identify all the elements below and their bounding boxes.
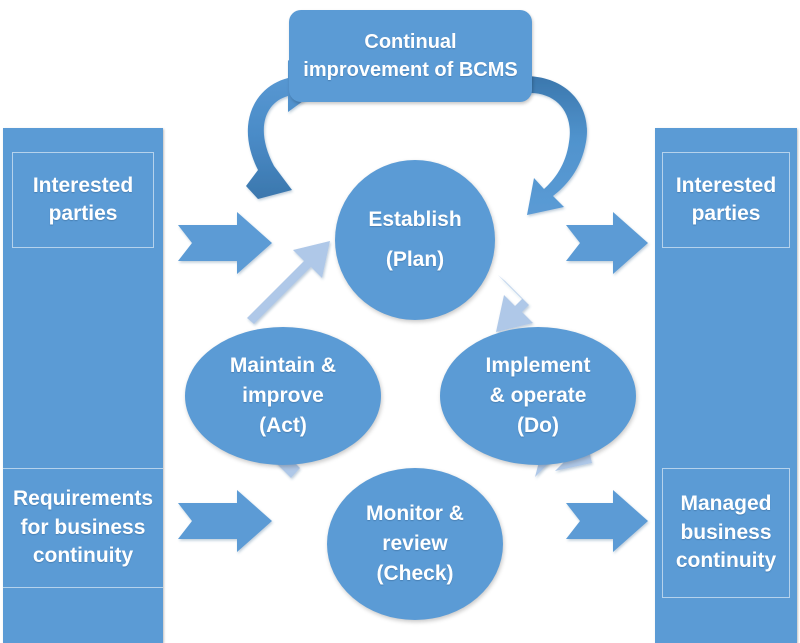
- left-interested-parties-label: Interested parties: [33, 172, 133, 229]
- arrow-output-top: [566, 212, 648, 274]
- left-panel-interested-parties-box: Interested parties: [12, 152, 154, 248]
- arrow-output-bottom: [566, 490, 648, 552]
- left-panel-requirements-box: Requirements for business continuity: [3, 468, 163, 588]
- right-managed-continuity-label: Managed business continuity: [676, 490, 776, 575]
- diagram-canvas: Interested parties Requirements for busi…: [0, 0, 800, 643]
- arrow-plan-to-do: [496, 275, 533, 332]
- right-interested-parties-label: Interested parties: [676, 172, 776, 229]
- node-establish-plan-label: Establish (Plan): [368, 205, 461, 275]
- node-establish-plan: Establish (Plan): [335, 160, 495, 320]
- node-implement-operate-do: Implement & operate (Do): [440, 327, 636, 465]
- node-maintain-improve-label: Maintain & improve (Act): [230, 351, 336, 440]
- arrow-loop-right: [527, 76, 587, 215]
- node-monitor-review-check: Monitor & review (Check): [327, 468, 503, 620]
- node-maintain-improve-act: Maintain & improve (Act): [185, 327, 381, 465]
- continual-improvement-box: Continual improvement of BCMS: [289, 10, 532, 102]
- arrow-input-top: [178, 212, 272, 274]
- continual-improvement-label: Continual improvement of BCMS: [303, 28, 517, 84]
- right-panel-interested-parties-box: Interested parties: [662, 152, 790, 248]
- right-panel-managed-continuity-box: Managed business continuity: [662, 468, 790, 598]
- node-monitor-review-label: Monitor & review (Check): [366, 499, 464, 588]
- left-requirements-label: Requirements for business continuity: [13, 485, 153, 570]
- arrow-input-bottom: [178, 490, 272, 552]
- node-implement-operate-label: Implement & operate (Do): [485, 351, 590, 440]
